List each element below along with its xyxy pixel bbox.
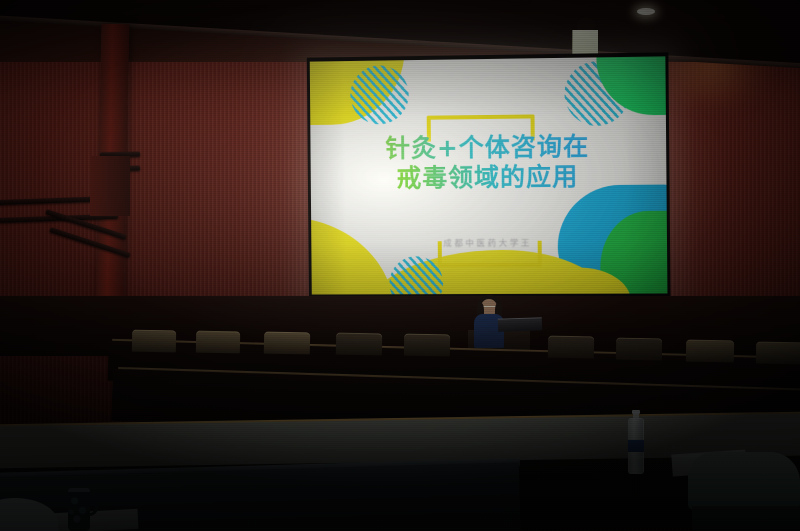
lecture-hall-photo: 针灸+个体咨询在 戒毒领域的应用 成都中医药大学王 [0,0,800,531]
scene-vignette [0,0,800,531]
